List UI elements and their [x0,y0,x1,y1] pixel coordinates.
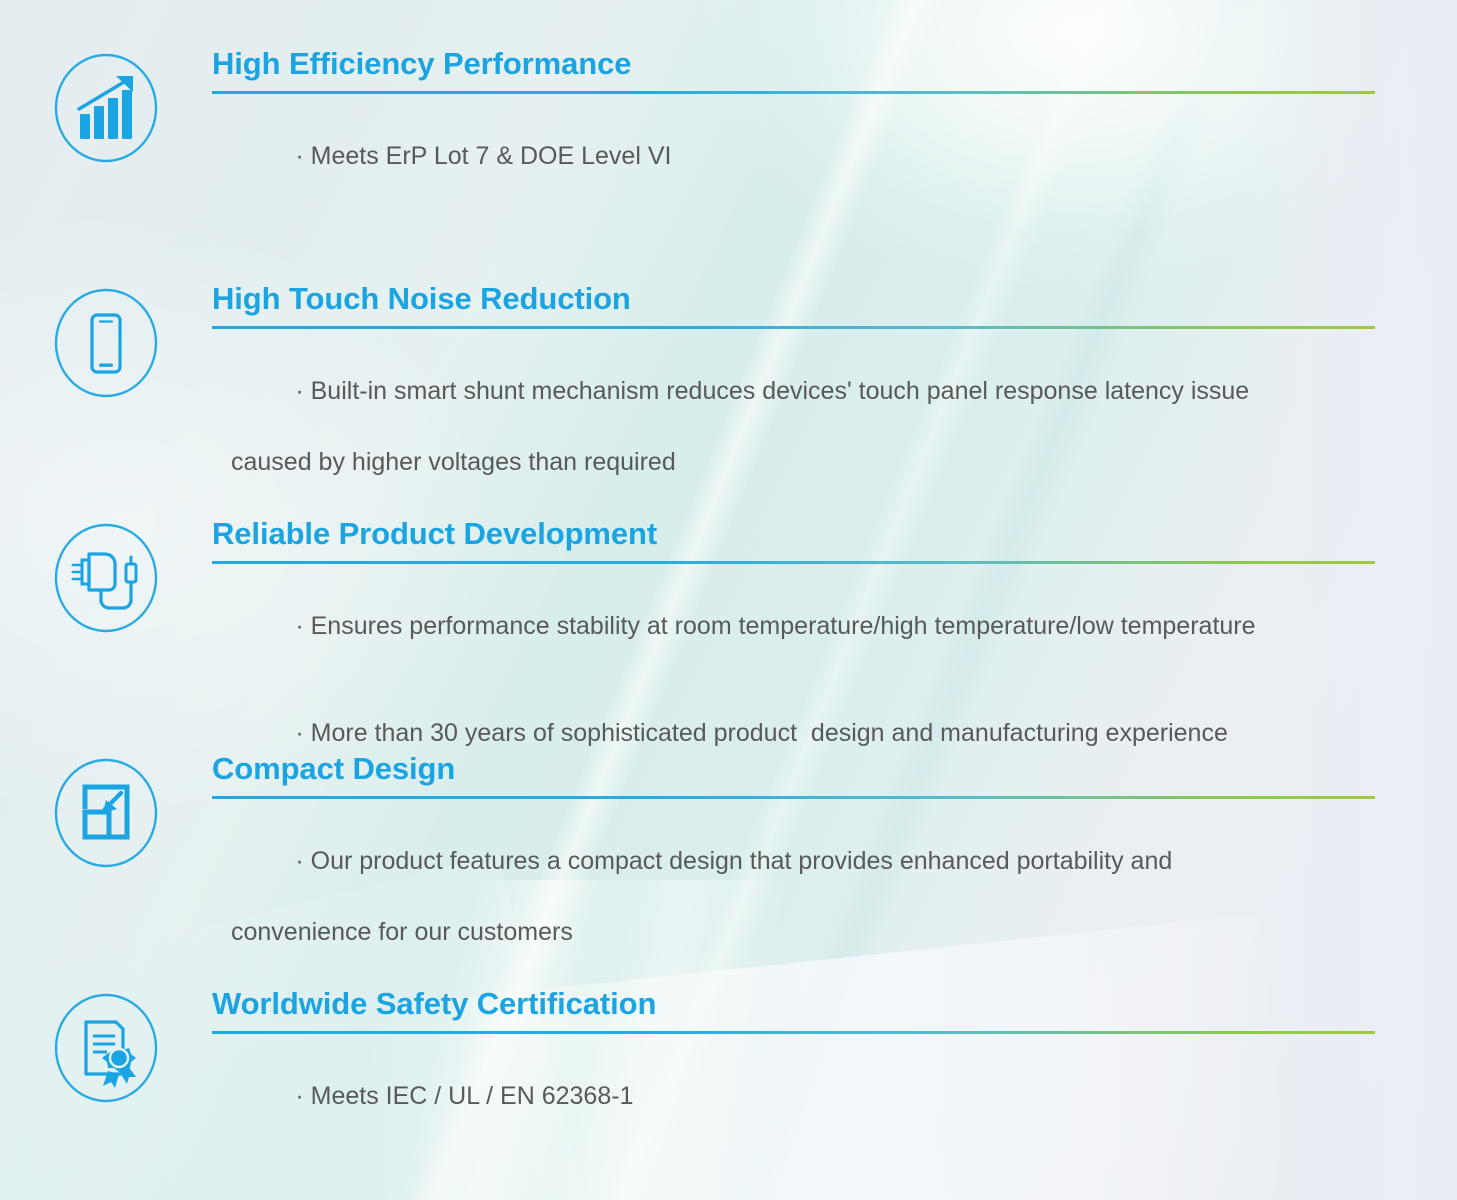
bullet-marker: · [295,1082,303,1110]
feature-item-worldwide-safety-certification: Worldwide Safety Certification · Meets I… [0,986,1457,1150]
feature-highlights-page: High Efficiency Performance · Meets ErP … [0,0,1457,1200]
feature-lines: · Meets ErP Lot 7 & DOE Level VI [212,104,1375,211]
feature-lines: · Meets IEC / UL / EN 62368-1 [212,1044,1375,1151]
feature-body: High Touch Noise Reduction · Built-in sm… [212,281,1457,552]
feature-divider [212,326,1375,329]
feature-icon-wrap [0,46,212,164]
feature-title: Worldwide Safety Certification [212,986,1375,1022]
feature-divider [212,91,1375,94]
feature-item-high-touch-noise-reduction: High Touch Noise Reduction · Built-in sm… [0,281,1457,552]
feature-line-continuation: caused by higher voltages than required [212,445,1375,481]
feature-icon-wrap [0,516,212,634]
feature-line-text: Our product features a compact design th… [304,847,1173,875]
feature-title: High Efficiency Performance [212,46,1375,82]
bullet-marker: · [295,377,303,405]
resize-compact-icon [53,757,159,869]
feature-line-text: More than 30 years of sophisticated prod… [304,719,1228,747]
feature-item-compact-design: Compact Design · Our product features a … [0,751,1457,1022]
smartphone-icon [53,287,159,399]
feature-icon-wrap [0,986,212,1104]
growth-chart-icon [53,52,159,164]
feature-line-text: Meets IEC / UL / EN 62368-1 [304,1082,634,1110]
bullet-marker: · [295,847,303,875]
feature-title: Reliable Product Development [212,516,1375,552]
feature-body: Compact Design · Our product features a … [212,751,1457,1022]
feature-line-continuation: convenience for our customers [212,915,1375,951]
feature-list: High Efficiency Performance · Meets ErP … [0,0,1457,1200]
feature-line: · Meets IEC / UL / EN 62368-1 [212,1044,1375,1151]
feature-body: High Efficiency Performance · Meets ErP … [212,46,1457,210]
bullet-marker: · [295,719,303,747]
bullet-marker: · [295,142,303,170]
feature-item-reliable-product-development: Reliable Product Development · Ensures p… [0,516,1457,787]
feature-body: Reliable Product Development · Ensures p… [212,516,1457,787]
feature-divider [212,1031,1375,1034]
feature-line: · Ensures performance stability at room … [212,574,1375,681]
certificate-icon [53,992,159,1104]
feature-line: · Meets ErP Lot 7 & DOE Level VI [212,104,1375,211]
feature-line-text: Ensures performance stability at room te… [304,612,1256,640]
feature-title: Compact Design [212,751,1375,787]
feature-title: High Touch Noise Reduction [212,281,1375,317]
feature-body: Worldwide Safety Certification · Meets I… [212,986,1457,1150]
feature-line-text: Built-in smart shunt mechanism reduces d… [304,377,1250,405]
bullet-marker: · [295,612,303,640]
feature-divider [212,796,1375,799]
feature-divider [212,561,1375,564]
feature-icon-wrap [0,281,212,399]
feature-item-high-efficiency-performance: High Efficiency Performance · Meets ErP … [0,46,1457,210]
feature-line-text: Meets ErP Lot 7 & DOE Level VI [304,142,672,170]
feature-icon-wrap [0,751,212,869]
power-adapter-icon [53,522,159,634]
